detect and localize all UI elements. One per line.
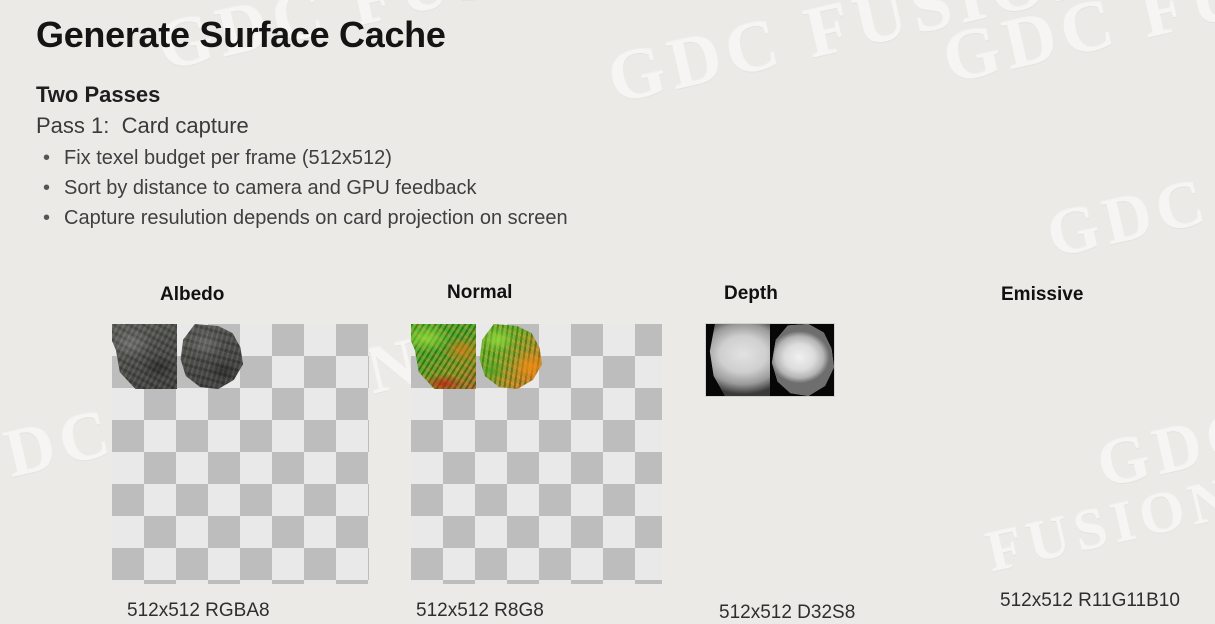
column-header-emissive: Emissive <box>1001 284 1083 306</box>
list-item: Fix texel budget per frame (512x512) <box>36 143 568 173</box>
bullet-list: Fix texel budget per frame (512x512) Sor… <box>36 143 568 233</box>
depth-card-capture <box>706 324 770 396</box>
column-header-normal: Normal <box>447 282 512 304</box>
section-subheading: Two Passes <box>36 82 160 108</box>
list-item: Sort by distance to camera and GPU feedb… <box>36 173 568 203</box>
albedo-card-capture <box>178 324 243 389</box>
normal-atlas-panel <box>411 324 662 584</box>
depth-atlas-panel <box>706 324 834 396</box>
column-caption-albedo: 512x512 RGBA8 <box>127 600 270 622</box>
normal-card-capture <box>477 324 542 389</box>
albedo-atlas-panel <box>112 324 369 584</box>
pass-label: Pass 1: Card capture <box>36 113 249 139</box>
slide-canvas: Generate Surface Cache Two Passes Pass 1… <box>0 0 1215 622</box>
column-caption-normal: 512x512 R8G8 <box>416 600 544 622</box>
column-caption-depth: 512x512 D32S8 <box>719 602 855 624</box>
column-caption-emissive: 512x512 R11G11B10 <box>1000 590 1180 612</box>
page-title: Generate Surface Cache <box>36 14 446 56</box>
list-item: Capture resulution depends on card proje… <box>36 203 568 233</box>
depth-card-capture <box>770 324 834 396</box>
column-header-albedo: Albedo <box>160 284 224 306</box>
normal-card-capture <box>411 324 476 389</box>
column-header-depth: Depth <box>724 283 778 305</box>
albedo-card-capture <box>112 324 177 389</box>
